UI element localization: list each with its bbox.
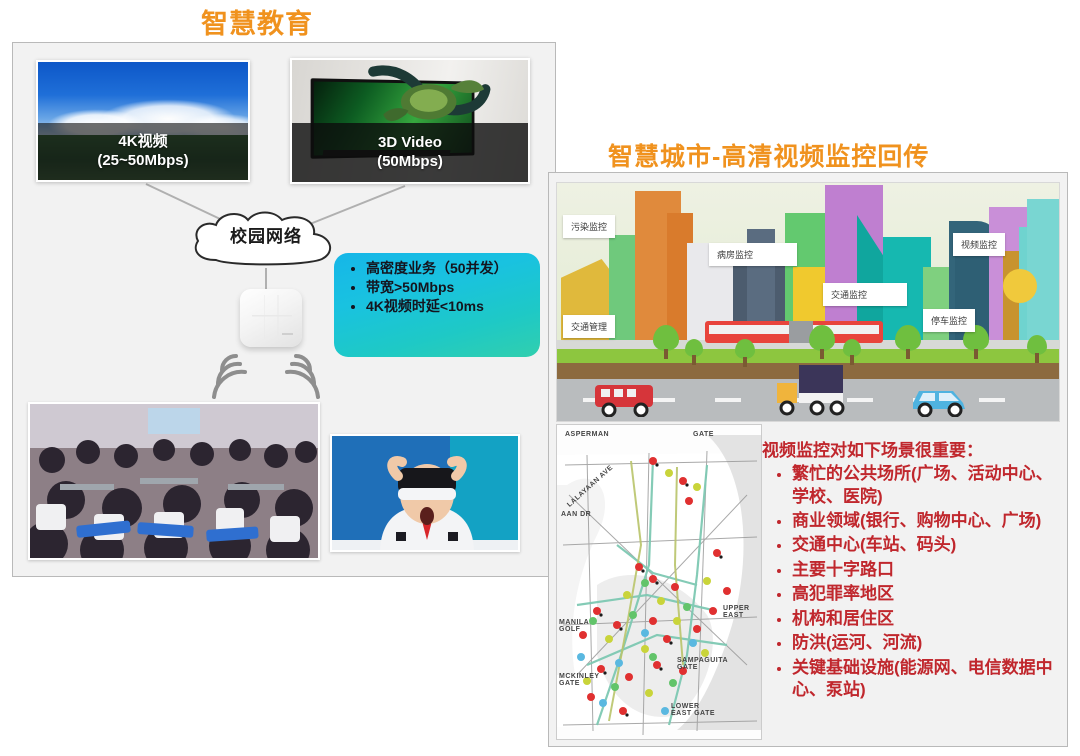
cctv-deployment-map: ASPERMAN GATE LALAYAAN AVE AAN DR UPPER … — [556, 424, 762, 740]
tree — [809, 325, 835, 359]
cctv-scenario-item: 主要十字路口 — [792, 559, 1062, 581]
video-card-4k-line2: (25~50Mbps) — [38, 152, 248, 170]
right-section-title: 智慧城市-高清视频监控回传 — [608, 137, 929, 173]
vr-student-photo-content — [332, 436, 520, 552]
network-requirement-item: 4K视频时延<10ms — [366, 298, 530, 316]
video-card-4k: 4K视频 (25~50Mbps) — [36, 60, 250, 182]
video-card-3d-caption: 3D Video (50Mbps) — [292, 123, 528, 182]
map-text: SAMPAGUITA GATE — [677, 657, 727, 671]
video-card-4k-line1: 4K视频 — [38, 133, 248, 151]
building-dome — [1003, 269, 1037, 303]
video-card-3d-line2: (50Mbps) — [292, 153, 528, 171]
wifi-access-point-device — [240, 289, 302, 347]
red-bus — [593, 381, 659, 417]
map-text: ASPERMAN — [565, 431, 609, 438]
classroom-photo-content — [30, 404, 320, 560]
slide-canvas: 智慧教育 4K视频 (25~50Mbps) 3D Video (50Mbps) — [0, 0, 1080, 756]
cctv-scenario-item: 商业领域(银行、购物中心、广场) — [792, 510, 1062, 532]
tree — [653, 325, 679, 359]
tree — [1027, 335, 1047, 363]
smart-city-illustration: 污染监控 病房监控 视频监控 交通监控 停车监控 交通管理 — [556, 182, 1060, 422]
city-label-traffic-monitor: 交通监控 — [823, 283, 907, 306]
tree — [843, 339, 861, 365]
video-card-4k-caption: 4K视频 (25~50Mbps) — [38, 123, 248, 180]
map-content — [557, 425, 762, 740]
video-card-3d-line1: 3D Video — [292, 134, 528, 152]
city-label-traffic-management: 交通管理 — [563, 315, 615, 338]
vr-student-photo — [330, 434, 520, 552]
cctv-scenario-item: 高犯罪率地区 — [792, 583, 1062, 605]
cctv-scenario-item: 关键基础设施(能源网、电信数据中心、泵站) — [792, 657, 1062, 702]
map-text: AAN DR — [561, 511, 591, 518]
blue-car — [909, 381, 971, 417]
tree — [895, 325, 921, 359]
network-requirement-item: 带宽>50Mbps — [366, 279, 530, 297]
network-requirements-list: 高密度业务（50并发） 带宽>50Mbps 4K视频时延<10ms — [344, 260, 534, 316]
campus-network-label: 校园网络 — [186, 222, 346, 247]
cctv-scenarios-list: 繁忙的公共场所(广场、活动中心、学校、医院) 商业领域(银行、购物中心、广场) … — [762, 463, 1062, 701]
cctv-scenarios-heading: 视频监控对如下场景很重要： — [762, 440, 1062, 462]
left-section-title: 智慧教育 — [201, 2, 313, 41]
cctv-scenarios-block: 视频监控对如下场景很重要： 繁忙的公共场所(广场、活动中心、学校、医院) 商业领… — [762, 440, 1062, 703]
map-text: UPPER EAST — [723, 605, 759, 619]
city-label-video-monitor: 视频监控 — [953, 233, 1005, 256]
cargo-truck — [773, 363, 859, 417]
tree — [685, 339, 703, 365]
cctv-scenario-item: 繁忙的公共场所(广场、活动中心、学校、医院) — [792, 463, 1062, 508]
city-label-parking-monitor: 停车监控 — [923, 309, 975, 332]
map-text: GATE — [693, 431, 714, 438]
cctv-scenario-item: 防洪(运河、河流) — [792, 632, 1062, 654]
cctv-scenario-item: 机构和居住区 — [792, 608, 1062, 630]
map-text: LOWER EAST GATE — [671, 703, 719, 717]
map-text: MANILA GOLF — [559, 619, 593, 633]
video-card-3d: 3D Video (50Mbps) — [290, 58, 530, 184]
city-label-ward-monitor: 病房监控 — [709, 243, 797, 266]
classroom-photo — [28, 402, 320, 560]
city-label-pollution-monitor: 污染监控 — [563, 215, 615, 238]
cctv-scenario-item: 交通中心(车站、码头) — [792, 534, 1062, 556]
tree — [735, 339, 755, 367]
network-requirements-bubble: 高密度业务（50并发） 带宽>50Mbps 4K视频时延<10ms — [334, 253, 540, 357]
map-text: MCKINLEY GATE — [559, 673, 599, 687]
network-requirement-item: 高密度业务（50并发） — [366, 260, 530, 278]
